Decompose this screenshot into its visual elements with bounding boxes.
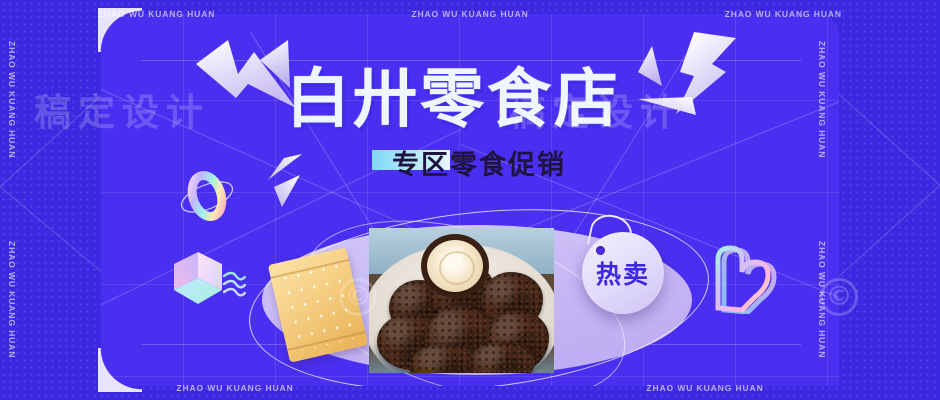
watermark-strip-right: ZHAO WU KUANG HUAN ZHAO WU KUANG HUAN <box>814 0 830 400</box>
watermark-strip-top: ZHAO WU KUANG HUAN ZHAO WU KUANG HUAN ZH… <box>0 6 940 22</box>
watermark-text: ZHAO WU KUANG HUAN <box>411 9 528 19</box>
triangle-shard-icon <box>636 46 664 90</box>
watermark-text: ZHAO WU KUANG HUAN <box>817 241 827 358</box>
watermark-strip-bottom: ZHAO WU KUANG HUAN ZHAO WU KUANG HUAN <box>0 380 940 396</box>
triangle-shard-icon <box>272 175 302 209</box>
page-title: 白卅零食店 <box>286 68 621 132</box>
page-subtitle: 专区零食促销 <box>392 152 566 179</box>
iridescent-cube-icon <box>172 250 246 316</box>
hot-sale-badge[interactable]: 热卖 <box>582 232 664 314</box>
watermark-text: ZHAO WU KUANG HUAN <box>176 383 293 393</box>
triangle-shard-icon <box>636 95 698 121</box>
promo-banner: 热卖 白卅零食店 专区零食促销 稿定设计 稿定设计 © © ZHAO WU KU… <box>0 0 940 400</box>
watermark-strip-left: ZHAO WU KUANG HUAN ZHAO WU KUANG HUAN <box>4 0 20 400</box>
product-photo <box>369 228 554 373</box>
badge-hole-icon <box>596 246 605 255</box>
hot-sale-badge-label: 热卖 <box>596 255 650 291</box>
watermark-text: ZHAO WU KUANG HUAN <box>7 41 17 158</box>
iridescent-torus-icon <box>178 168 236 226</box>
iridescent-heart-icon <box>706 242 784 314</box>
watermark-text: ZHAO WU KUANG HUAN <box>646 383 763 393</box>
watermark-text: ZHAO WU KUANG HUAN <box>7 241 17 358</box>
watermark-text: ZHAO WU KUANG HUAN <box>98 9 215 19</box>
watermark-text: ZHAO WU KUANG HUAN <box>817 41 827 158</box>
wire-line <box>828 185 940 286</box>
